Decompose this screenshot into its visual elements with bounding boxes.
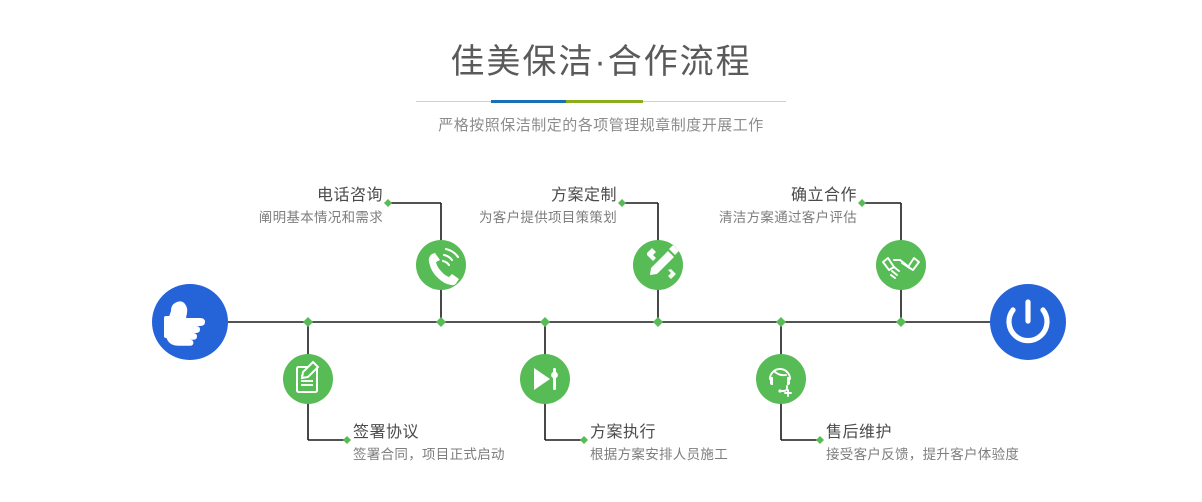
- step-icon-6[interactable]: [756, 354, 806, 404]
- node-diamond-2: [436, 317, 446, 327]
- timeline-start-node[interactable]: [152, 284, 228, 360]
- step-desc-3: 为客户提供项目策策划: [372, 209, 617, 227]
- step-circle-1: [416, 240, 466, 290]
- label-diamond-step-2: [343, 436, 351, 444]
- step-desc-4: 根据方案安排人员施工: [590, 446, 850, 464]
- step-title-3: 方案定制: [372, 186, 617, 206]
- node-diamond-1: [303, 317, 313, 327]
- step-icon-2[interactable]: [283, 354, 333, 404]
- step-desc-6: 接受客户反馈，提升客户体验度: [826, 446, 1106, 464]
- step-label-4: 方案执行 根据方案安排人员施工: [590, 423, 850, 464]
- step-icon-1[interactable]: [416, 240, 466, 290]
- step-title-2: 签署协议: [353, 423, 613, 443]
- node-diamond-3: [540, 317, 550, 327]
- step-icon-5[interactable]: [876, 240, 926, 290]
- step-title-4: 方案执行: [590, 423, 850, 443]
- step-circle-2: [283, 354, 333, 404]
- step-desc-1: 阐明基本情况和需求: [138, 209, 383, 227]
- step-desc-5: 清洁方案通过客户评估: [612, 209, 857, 227]
- step-label-2: 签署协议 签署合同，项目正式启动: [353, 423, 613, 464]
- step-label-1: 电话咨询 阐明基本情况和需求: [138, 186, 383, 227]
- step-circle-6: [756, 354, 806, 404]
- step-icon-4[interactable]: [520, 354, 570, 404]
- step-title-1: 电话咨询: [138, 186, 383, 206]
- node-diamond-6: [896, 317, 906, 327]
- step-label-3: 方案定制 为客户提供项目策策划: [372, 186, 617, 227]
- node-diamond-4: [653, 317, 663, 327]
- step-label-5: 确立合作 清洁方案通过客户评估: [612, 186, 857, 227]
- step-icon-3[interactable]: [633, 240, 683, 290]
- label-diamond-step-5: [858, 199, 866, 207]
- step-title-6: 售后维护: [826, 423, 1106, 443]
- flow-chart-page: 佳美保洁·合作流程 严格按照保洁制定的各项管理规章制度开展工作: [0, 0, 1202, 502]
- node-diamond-5: [776, 317, 786, 327]
- step-circle-5: [876, 240, 926, 290]
- timeline-end-node[interactable]: [990, 284, 1066, 360]
- step-label-6: 售后维护 接受客户反馈，提升客户体验度: [826, 423, 1106, 464]
- step-desc-2: 签署合同，项目正式启动: [353, 446, 613, 464]
- step-title-5: 确立合作: [612, 186, 857, 206]
